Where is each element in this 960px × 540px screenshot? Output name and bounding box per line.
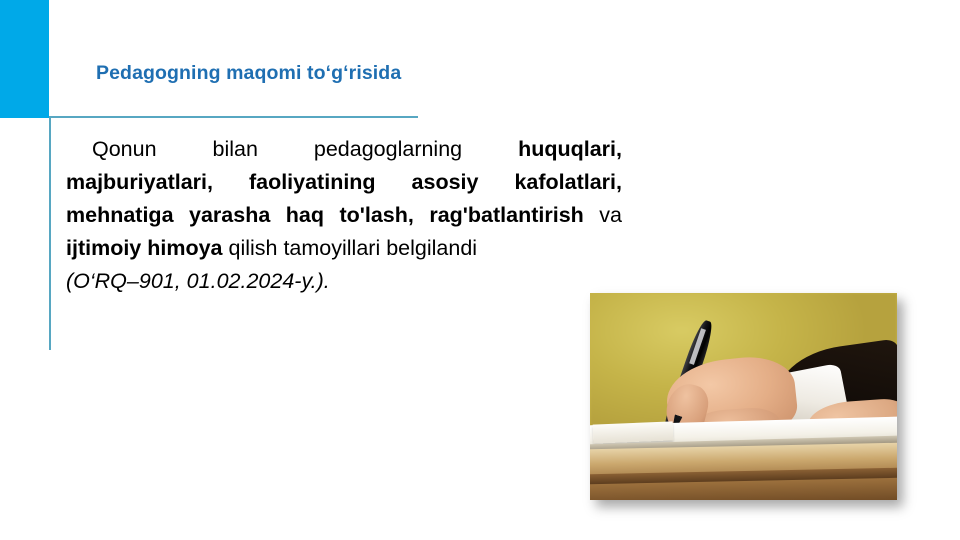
accent-bar — [0, 0, 49, 118]
slide-title: Pedagogning maqomi to‘g‘risida — [96, 62, 401, 85]
body-paragraph: Qonun bilan pedagoglarning huquqlari, ma… — [66, 133, 622, 298]
title-underline-rule — [49, 116, 418, 118]
body-segment-plain-1: Qonun bilan pedagoglarning — [92, 137, 518, 161]
slide-canvas: Pedagogning maqomi to‘g‘risida Qonun bil… — [0, 0, 960, 540]
body-segment-plain-3: qilish tamoyillari belgilandi — [223, 236, 478, 260]
body-segment-plain-2: va — [584, 203, 622, 227]
body-segment-bold-2: ijtimoiy himoya — [66, 236, 223, 260]
signing-document-photo — [590, 293, 897, 500]
content-side-rule — [49, 118, 51, 350]
photo-small-paper — [593, 422, 674, 444]
body-segment-citation: (O‘RQ–901, 01.02.2024-y.). — [66, 265, 622, 298]
photo-illustration — [590, 293, 897, 500]
